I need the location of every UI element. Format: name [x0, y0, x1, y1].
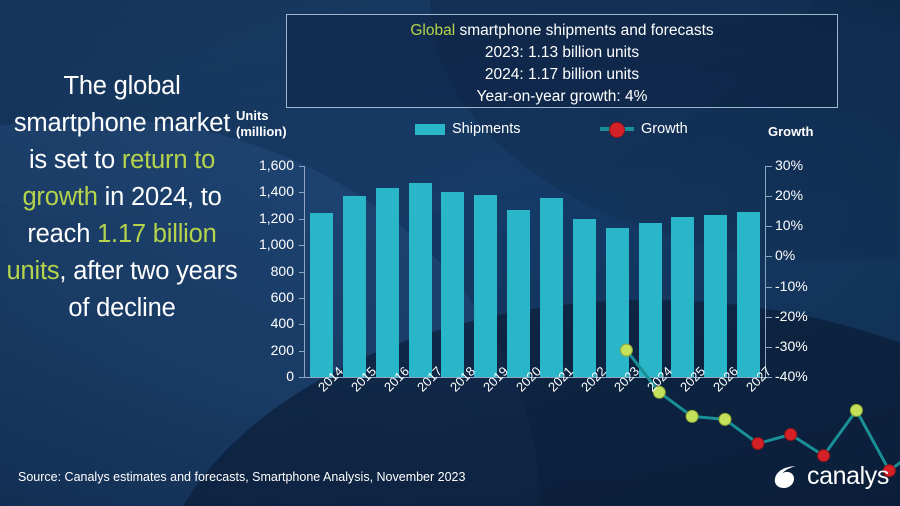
right-axis-label: -30% — [775, 338, 835, 354]
chart-title-accent: Global — [410, 22, 455, 39]
source-note: Source: Canalys estimates and forecasts,… — [18, 470, 465, 484]
bar-2015 — [343, 196, 366, 377]
legend-item-growth: Growth — [600, 121, 688, 137]
right-axis-label: 10% — [775, 217, 835, 233]
left-axis-label: 1,200 — [232, 210, 294, 226]
bar-2020 — [507, 210, 530, 377]
growth-marker-2018: 2018: -7% — [752, 438, 764, 450]
growth-marker-2014: 2014: 24% — [620, 344, 632, 356]
left-axis-tick — [299, 245, 305, 246]
legend-label-shipments: Shipments — [452, 121, 521, 137]
right-axis-tick — [766, 347, 772, 348]
right-axis-title: Growth — [768, 124, 814, 139]
canalys-logo: canalys — [770, 461, 889, 491]
lead-segment-4: , after two years of decline — [59, 257, 237, 322]
chart-title-line-2: 2023: 1.13 billion units — [287, 42, 837, 64]
left-axis-label: 0 — [232, 368, 294, 384]
bar-2018 — [441, 192, 464, 377]
chart-title-line-3: 2024: 1.17 billion units — [287, 64, 837, 86]
bar-2017 — [409, 183, 432, 377]
right-axis-label: 0% — [775, 247, 835, 263]
right-axis-label: -10% — [775, 278, 835, 294]
canalys-wordmark: canalys — [807, 462, 889, 491]
left-axis-tick — [299, 377, 305, 378]
right-axis-tick — [766, 287, 772, 288]
left-axis-label: 200 — [232, 342, 294, 358]
left-axis-tick — [299, 351, 305, 352]
left-axis-label: 1,400 — [232, 183, 294, 199]
left-axis-label: 600 — [232, 289, 294, 305]
growth-marker-2019: 2019: -4% — [785, 429, 797, 441]
chart-title-line-1: Global smartphone shipments and forecast… — [287, 20, 837, 42]
chart-legend: Shipments Growth — [415, 121, 735, 143]
bar-2019 — [474, 195, 497, 377]
left-axis-tick — [299, 192, 305, 193]
chart-title-rest: smartphone shipments and forecasts — [455, 22, 713, 39]
growth-marker-2020: 2020: -11% — [818, 450, 830, 462]
right-axis-tick — [766, 196, 772, 197]
bar-2016 — [376, 188, 399, 377]
bar-2022 — [573, 219, 596, 377]
right-axis-label: 30% — [775, 157, 835, 173]
left-axis-tick — [299, 298, 305, 299]
growth-marker-2017: 2017: 1% — [719, 413, 731, 425]
chart-title-line-4: Year-on-year growth: 4% — [287, 86, 837, 108]
right-axis-label: -20% — [775, 308, 835, 324]
right-axis-tick — [766, 226, 772, 227]
right-axis-label: 20% — [775, 187, 835, 203]
growth-marker-2016: 2016: 2% — [686, 410, 698, 422]
lead-statement: The global smartphone market is set to r… — [6, 68, 238, 327]
growth-marker-2021: 2021: 4% — [850, 404, 862, 416]
bar-2014 — [310, 213, 333, 377]
left-axis-label: 1,000 — [232, 236, 294, 252]
legend-bar-swatch-icon — [415, 124, 445, 135]
left-axis-title: Units(million) — [236, 108, 287, 140]
right-axis-tick — [766, 256, 772, 257]
left-axis-label: 400 — [232, 315, 294, 331]
canalys-mark-icon — [770, 461, 800, 491]
plot-area: 2014: 24%2015: 10%2016: 2%2017: 1%2018: … — [305, 166, 765, 377]
right-axis-tick — [766, 166, 772, 167]
left-axis-tick — [299, 219, 305, 220]
bar-2021 — [540, 198, 563, 377]
left-axis-tick — [299, 272, 305, 273]
slide-canvas: The global smartphone market is set to r… — [0, 0, 900, 506]
left-axis-label: 800 — [232, 263, 294, 279]
right-axis-label: -40% — [775, 368, 835, 384]
left-axis-tick — [299, 324, 305, 325]
right-axis-tick — [766, 317, 772, 318]
legend-label-growth: Growth — [641, 121, 688, 137]
chart-title-box: Global smartphone shipments and forecast… — [286, 14, 838, 108]
legend-line-marker-icon — [600, 127, 634, 131]
left-axis-label: 1,600 — [232, 157, 294, 173]
legend-item-shipments: Shipments — [415, 121, 521, 137]
left-axis-tick — [299, 166, 305, 167]
